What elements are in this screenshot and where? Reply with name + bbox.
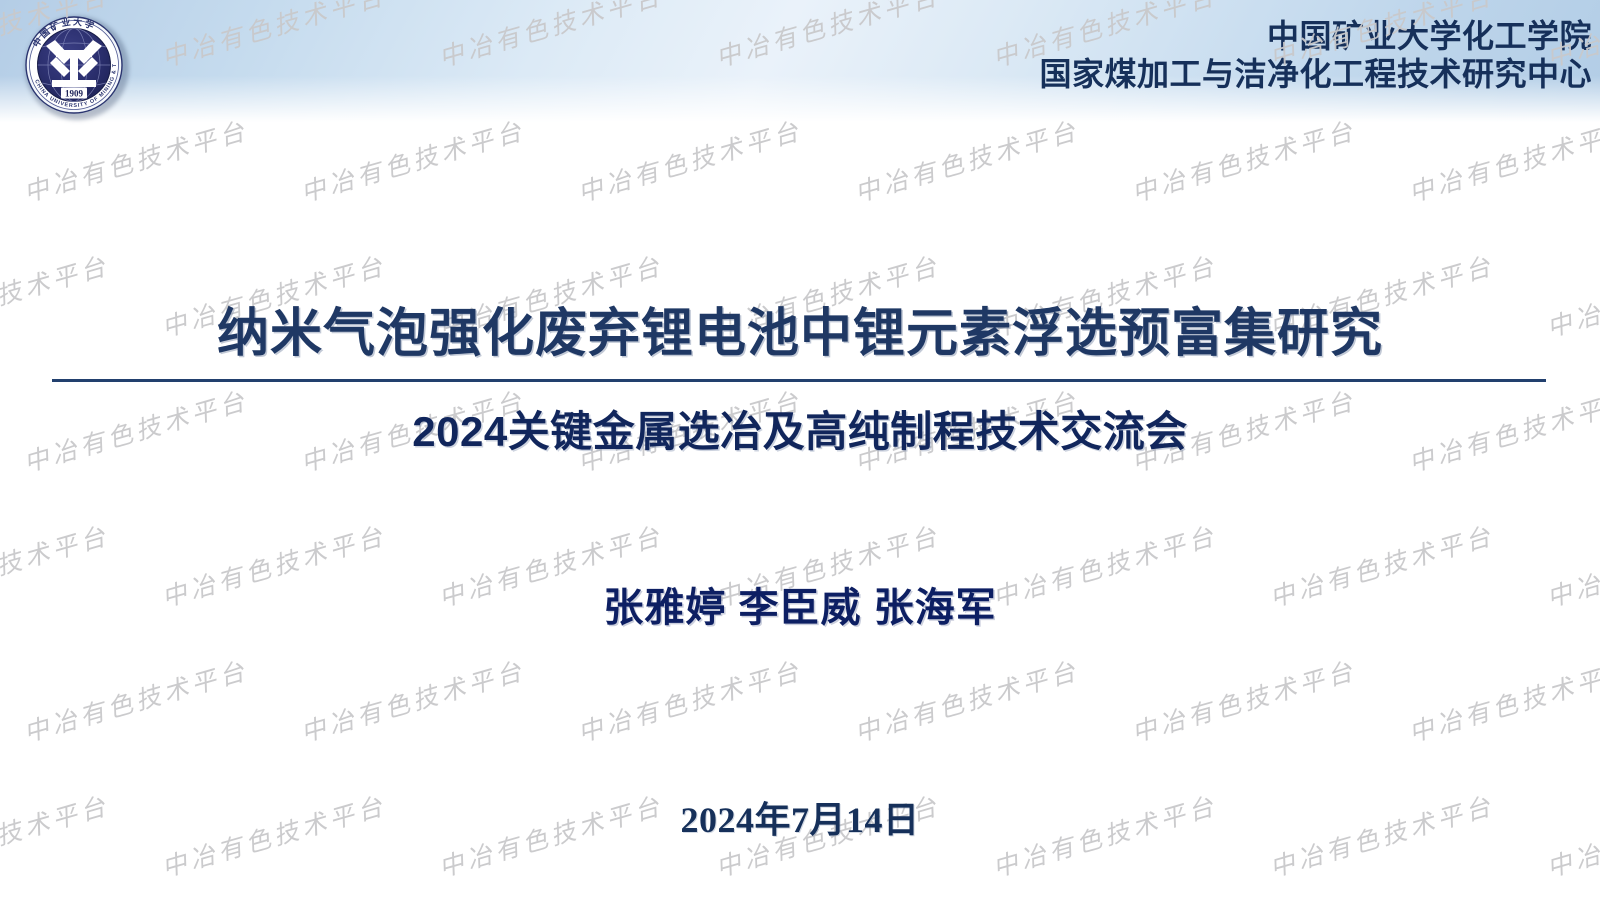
title-divider-rule (52, 379, 1546, 382)
presentation-date: 2024年7月14日 (0, 791, 1600, 843)
presentation-title-slide: 1909 CHINA UNIVERSITY OF MINING & TECHNO… (0, 0, 1600, 899)
conference-subtitle: 2024关键金属选冶及高纯制程技术交流会 (0, 398, 1600, 459)
slide-content: 纳米气泡强化废弃锂电池中锂元素浮选预富集研究 2024关键金属选冶及高纯制程技术… (0, 0, 1600, 899)
author-list: 张雅婷 李臣威 张海军 (0, 575, 1600, 633)
page-title: 纳米气泡强化废弃锂电池中锂元素浮选预富集研究 (0, 291, 1600, 366)
